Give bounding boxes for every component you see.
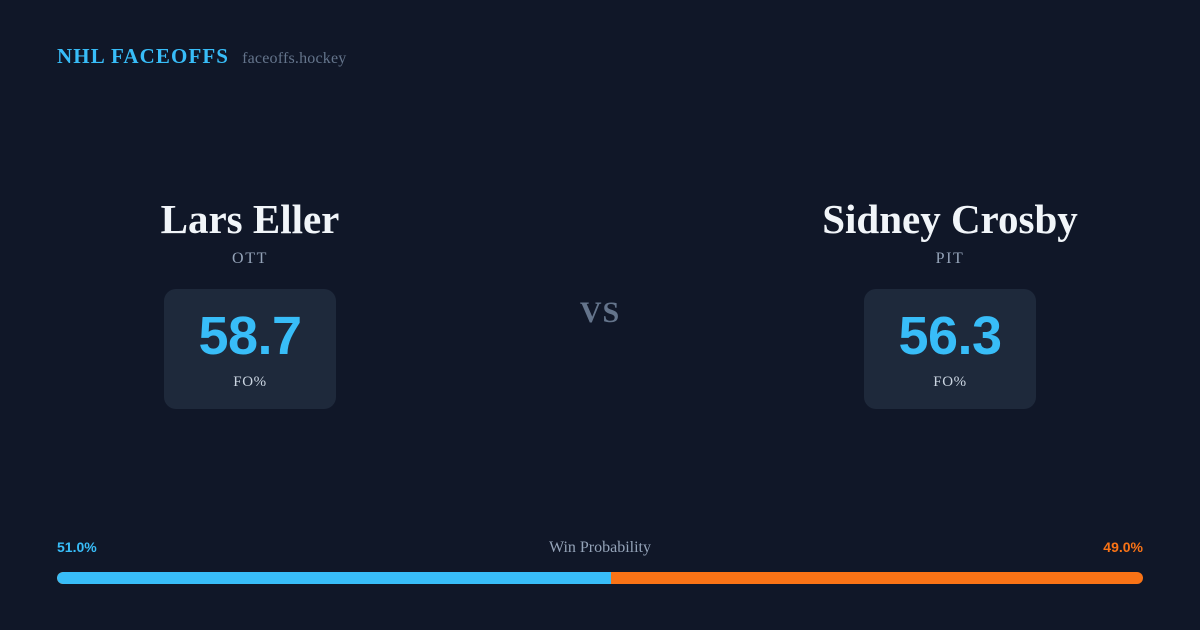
player-team-abbrev: PIT [936, 251, 965, 267]
faceoff-percentage-label: FO% [233, 375, 266, 390]
brand-domain-label: faceoffs.hockey [242, 51, 346, 67]
win-probability-right-value: 49.0% [1103, 540, 1143, 554]
faceoff-stat-card: 58.7 FO% [164, 289, 336, 409]
faceoff-percentage-value: 56.3 [898, 309, 1001, 363]
vs-separator: VS [500, 195, 700, 328]
site-header: NHL FACEOFFS faceoffs.hockey [57, 46, 347, 67]
faceoff-stat-card: 56.3 FO% [864, 289, 1036, 409]
brand-title: NHL FACEOFFS [57, 46, 229, 67]
player-card-left: Lars Eller OTT 58.7 FO% [0, 195, 500, 409]
player-card-right: Sidney Crosby PIT 56.3 FO% [700, 195, 1200, 409]
player-team-abbrev: OTT [232, 251, 268, 267]
win-probability-section: 51.0% Win Probability 49.0% [57, 540, 1143, 584]
player-name: Sidney Crosby [822, 195, 1078, 243]
player-name: Lars Eller [161, 195, 340, 243]
win-probability-left-value: 51.0% [57, 540, 97, 554]
faceoff-percentage-label: FO% [933, 375, 966, 390]
win-probability-bar [57, 572, 1143, 584]
win-probability-title: Win Probability [549, 540, 651, 556]
win-probability-labels: 51.0% Win Probability 49.0% [57, 540, 1143, 558]
matchup-section: Lars Eller OTT 58.7 FO% VS Sidney Crosby… [0, 195, 1200, 409]
win-probability-bar-left-fill [57, 572, 611, 584]
promo-card: NHL FACEOFFS faceoffs.hockey Lars Eller … [0, 0, 1200, 630]
faceoff-percentage-value: 58.7 [198, 309, 301, 363]
vs-label: VS [580, 298, 620, 328]
